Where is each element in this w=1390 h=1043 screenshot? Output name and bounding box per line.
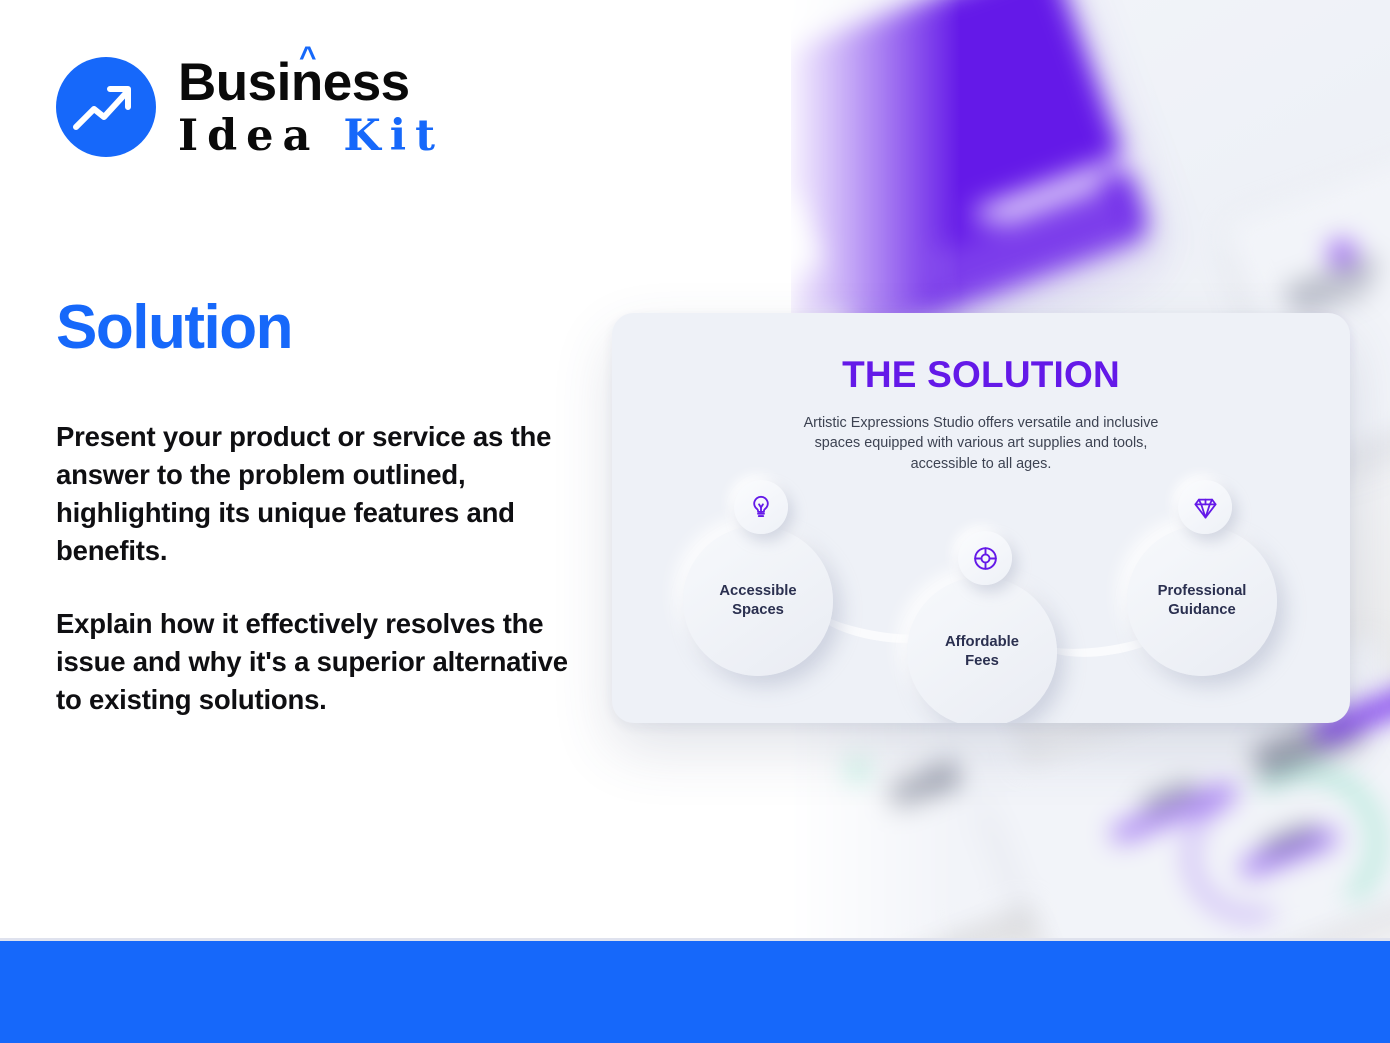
body-copy: Present your product or service as the a… — [56, 418, 596, 719]
brand-line-idea-kit: Idea Kit — [178, 115, 444, 158]
page-title: Solution — [56, 297, 292, 359]
solution-slide-subtitle: Artistic Expressions Studio offers versa… — [781, 413, 1181, 474]
brand-line2-idea: Idea — [178, 111, 343, 161]
solution-item-label-1: Accessible Spaces — [719, 582, 796, 620]
brand-wordmark: Business ^ Idea Kit — [178, 56, 444, 158]
brand-logo: Business ^ Idea Kit — [56, 56, 444, 158]
backdrop-dot-green — [845, 760, 865, 780]
lifebuoy-icon — [958, 531, 1012, 585]
solution-item-label-3: Professional Guidance — [1158, 582, 1247, 620]
body-paragraph-1: Present your product or service as the a… — [56, 418, 596, 570]
brand-line2-kit: Kit — [343, 111, 444, 161]
lightbulb-icon — [734, 480, 788, 534]
body-paragraph-2: Explain how it effectively resolves the … — [56, 605, 596, 719]
brand-caret-accent: ^ — [299, 43, 316, 73]
backdrop-dot-purple — [1329, 240, 1355, 266]
solution-item-affordable-fees[interactable]: Affordable Fees — [907, 577, 1057, 723]
solution-item-label-2: Affordable Fees — [945, 633, 1019, 671]
footer-bar — [0, 941, 1390, 1043]
slide-page: Business ^ Idea Kit Solution Present you… — [0, 0, 1390, 1043]
solution-item-accessible-spaces[interactable]: Accessible Spaces — [683, 526, 833, 676]
solution-item-professional-guidance[interactable]: Professional Guidance — [1127, 526, 1277, 676]
solution-slide-card: THE SOLUTION Artistic Expressions Studio… — [612, 313, 1350, 723]
brand-line1-text: Business — [178, 53, 410, 112]
growth-arrow-icon — [56, 57, 156, 157]
diamond-icon — [1178, 480, 1232, 534]
solution-slide-title: THE SOLUTION — [612, 354, 1350, 396]
brand-line-business: Business ^ — [178, 56, 444, 109]
